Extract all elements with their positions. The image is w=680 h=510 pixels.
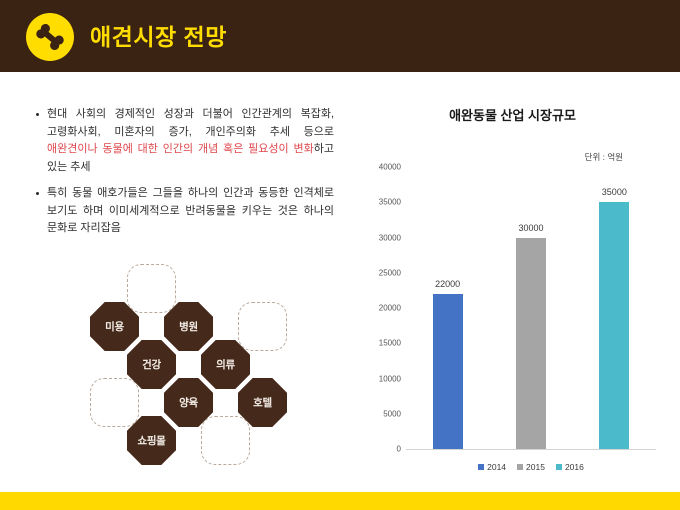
chart-title: 애완동물 산업 시장규모 — [360, 105, 665, 124]
honeycomb-cell-empty — [90, 378, 139, 427]
bar-series: 220003000035000 — [406, 167, 656, 449]
list-item: 현대 사회의 경제적인 성장과 더불어 인간관계의 복잡화, 고령화사회, 미혼… — [34, 106, 334, 176]
list-item: 특히 동물 애호가들은 그들을 하나의 인간과 동등한 인격체로 보기도 하며 … — [34, 185, 334, 238]
bullet-text-highlighted: 애완견이나 동물에 대한 인간의 개념 혹은 필요성이 변화 — [47, 143, 314, 155]
bar-value-label: 35000 — [602, 187, 627, 197]
legend-label: 2014 — [487, 462, 506, 472]
y-axis-tick-label: 40000 — [359, 163, 401, 172]
honeycomb-cell-label: 의류 — [216, 357, 235, 372]
market-size-chart: 애완동물 산업 시장규모 단위 : 억원 0500010000150002000… — [360, 95, 665, 485]
y-axis-tick-label: 20000 — [359, 304, 401, 313]
y-axis-tick-label: 10000 — [359, 374, 401, 383]
bottom-accent-bar — [0, 492, 680, 510]
honeycomb-cell-label: 미용 — [105, 319, 124, 334]
bullet-text-plain-leading: 현대 사회의 경제적인 성장과 더불어 인간관계의 복잡화, 고령화사회, 미혼… — [47, 108, 334, 138]
slide-header: 애견시장 전망 — [0, 0, 680, 72]
legend-swatch — [556, 464, 562, 470]
x-axis-line — [406, 449, 656, 450]
legend-label: 2016 — [565, 462, 584, 472]
bar-2014[interactable] — [433, 294, 463, 449]
bar-group: 22000 — [406, 167, 489, 449]
honeycomb-cell-label: 건강 — [142, 357, 161, 372]
honeycomb-cell-label: 양육 — [179, 395, 198, 410]
y-axis-tick-label: 35000 — [359, 198, 401, 207]
chart-unit-label: 단위 : 억원 — [585, 151, 623, 163]
bone-icon — [26, 13, 74, 61]
honeycomb-diagram: 미용병원건강의류양육호텔쇼핑몰 — [60, 262, 350, 472]
bar-group: 30000 — [489, 167, 572, 449]
chart-legend: 201420152016 — [406, 462, 656, 472]
y-axis-tick-label: 0 — [359, 445, 401, 454]
honeycomb-cell-label: 병원 — [179, 319, 198, 334]
honeycomb-cell-label: 호텔 — [253, 395, 272, 410]
y-axis-tick-label: 15000 — [359, 339, 401, 348]
legend-swatch — [517, 464, 523, 470]
honeycomb-cell-label: 쇼핑몰 — [137, 433, 165, 448]
bullet-text-plain-leading: 특히 동물 애호가들은 그들을 하나의 인간과 동등한 인격체로 보기도 하며 … — [47, 187, 334, 234]
bar-value-label: 22000 — [435, 279, 460, 289]
bone-logo-badge — [26, 13, 74, 61]
legend-entry-2014[interactable]: 2014 — [478, 462, 506, 472]
honeycomb-cell-empty — [127, 264, 176, 313]
bar-group: 35000 — [573, 167, 656, 449]
legend-entry-2016[interactable]: 2016 — [556, 462, 584, 472]
legend-swatch — [478, 464, 484, 470]
legend-entry-2015[interactable]: 2015 — [517, 462, 545, 472]
bar-2015[interactable] — [516, 238, 546, 450]
legend-label: 2015 — [526, 462, 545, 472]
bar-2016[interactable] — [599, 202, 629, 449]
bullet-list: 현대 사회의 경제적인 성장과 더불어 인간관계의 복잡화, 고령화사회, 미혼… — [34, 106, 334, 247]
y-axis: 0500010000150002000025000300003500040000 — [360, 167, 406, 455]
page-title: 애견시장 전망 — [90, 18, 227, 52]
chart-plot-area: 0500010000150002000025000300003500040000… — [360, 167, 665, 455]
honeycomb-cell-empty — [238, 302, 287, 351]
y-axis-tick-label: 25000 — [359, 268, 401, 277]
bar-value-label: 30000 — [518, 223, 543, 233]
y-axis-tick-label: 5000 — [359, 409, 401, 418]
honeycomb-cell-empty — [201, 416, 250, 465]
y-axis-tick-label: 30000 — [359, 233, 401, 242]
